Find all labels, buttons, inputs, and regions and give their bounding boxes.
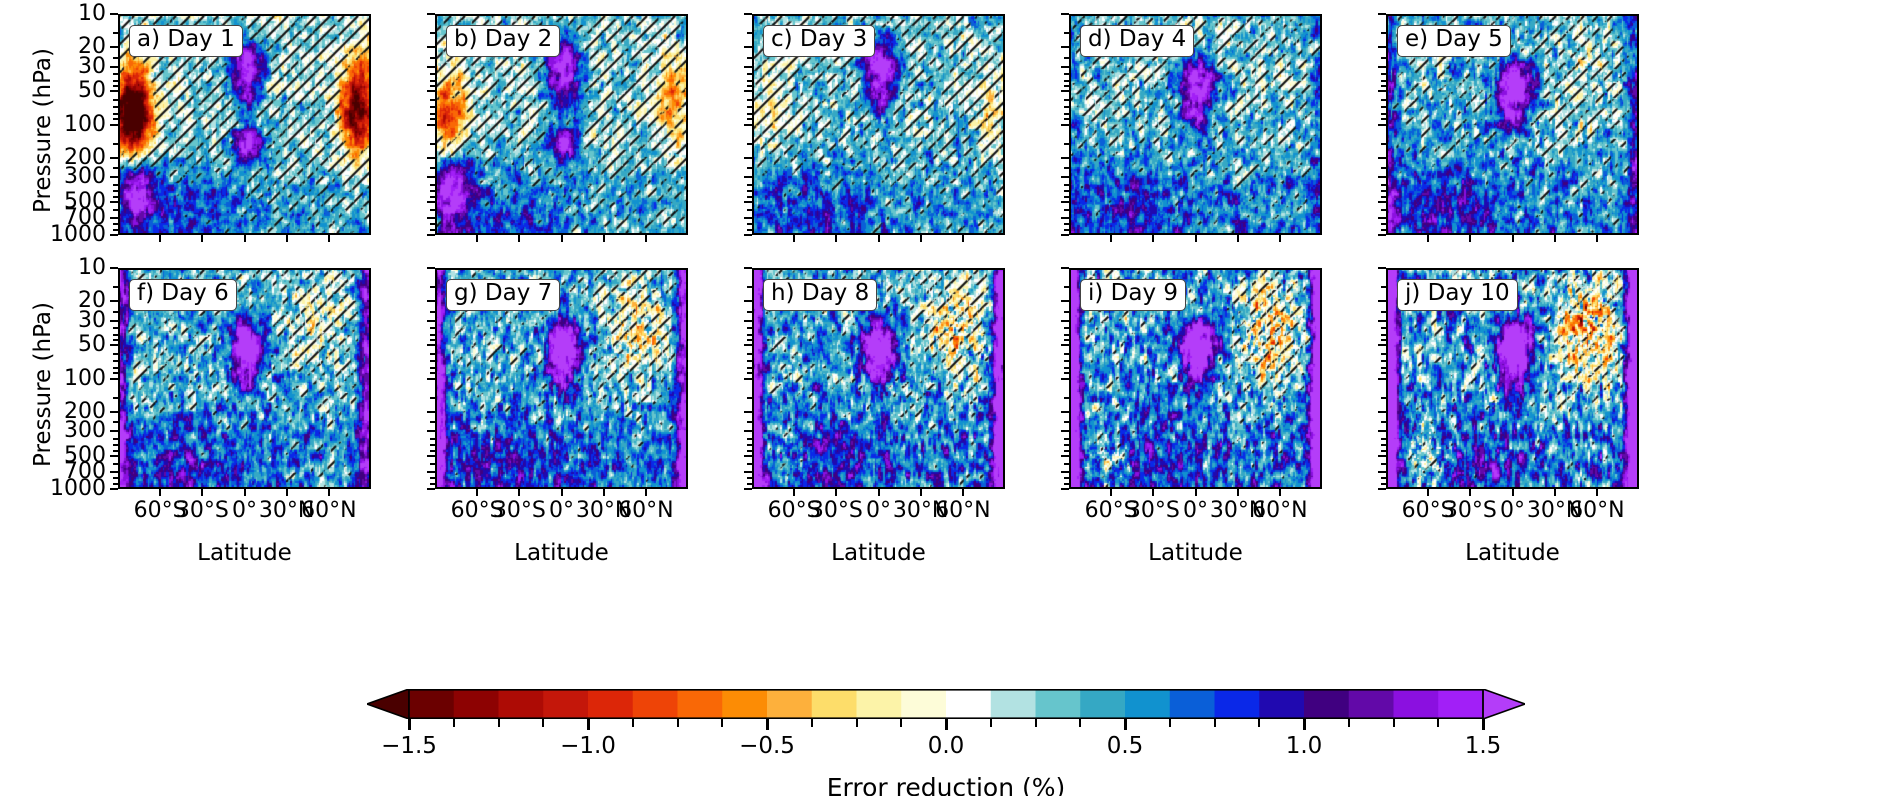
colorbar-minor-tick-3	[542, 719, 544, 727]
panel-e-ytick-minor-3	[1381, 80, 1386, 82]
panel-e-ytick-9	[1378, 234, 1386, 236]
panel-h-ytick-4	[744, 378, 752, 380]
panel-i-ytick-6	[1061, 430, 1069, 432]
panel-j-xtick-label-1: 30°S	[1444, 500, 1497, 522]
panel-h-ytick-9	[744, 488, 752, 490]
colorbar-minor-tick-21	[1348, 719, 1350, 727]
panel-g-ytick-minor-7	[430, 367, 435, 369]
panel-f-ytick-minor-16	[113, 483, 118, 485]
panel-a-ytick-2	[110, 66, 118, 68]
panel-h-ytick-1	[744, 300, 752, 302]
panel-a-ytick-minor-4	[113, 85, 118, 87]
panel-d-ytick-minor-6	[1064, 106, 1069, 108]
panel-j-ytick-0	[1378, 267, 1386, 269]
panel-j-xtick-4	[1596, 489, 1598, 496]
panel-a-ytick-minor-0	[113, 32, 118, 34]
panel-h-xtick-2	[878, 489, 880, 496]
colorbar-minor-tick-18	[1214, 719, 1216, 727]
panel-b-ytick-minor-9	[430, 143, 435, 145]
panel-j-ytick-minor-8	[1381, 372, 1386, 374]
panel-g-ytick-minor-1	[430, 311, 435, 313]
panel-h-ytick-minor-14	[747, 463, 752, 465]
panel-i-ytick-minor-3	[1064, 334, 1069, 336]
panel-b-ytick-minor-13	[430, 196, 435, 198]
panel-g-ytick-minor-12	[430, 444, 435, 446]
panel-j-title: j) Day 10	[1397, 279, 1518, 311]
panel-g-xaxis-label: Latitude	[514, 540, 609, 566]
colorbar-swatch-13	[991, 689, 1036, 719]
panel-f-xtick-label-4: 60°N	[301, 500, 356, 522]
panel-h-ytick-2	[744, 320, 752, 322]
panel-a-ytick-minor-1	[113, 57, 118, 59]
panel-i-ytick-2	[1061, 320, 1069, 322]
panel-c-ytick-minor-4	[747, 85, 752, 87]
panel-f-ytick-minor-10	[113, 421, 118, 423]
panel-e-xtick-0	[1427, 235, 1429, 242]
panel-f-ytick-2	[110, 320, 118, 322]
panel-a-ytick-minor-2	[113, 73, 118, 75]
panel-g-ytick-4	[427, 378, 435, 380]
panel-a-ytick-9	[110, 234, 118, 236]
panel-f-xtick-label-2: 0°	[232, 500, 257, 522]
panel-d-ytick-5	[1061, 157, 1069, 159]
panel-j-ytick-4	[1378, 378, 1386, 380]
colorbar-minor-tick-6	[677, 719, 679, 727]
panel-j-ytick-minor-6	[1381, 360, 1386, 362]
panel-i-xtick-0	[1110, 489, 1112, 496]
panel-i: i) Day 9	[1069, 268, 1322, 489]
panel-b-ytick-minor-14	[430, 209, 435, 211]
panel-b-ytick-minor-6	[430, 106, 435, 108]
panel-h-ytick-8	[744, 471, 752, 473]
panel-c-ytick-minor-5	[747, 99, 752, 101]
panel-f-ytick-minor-7	[113, 367, 118, 369]
colorbar-swatch-2	[499, 689, 544, 719]
panel-i-ytick-minor-7	[1064, 367, 1069, 369]
panel-c-ytick-minor-16	[747, 229, 752, 231]
panel-c-ytick-minor-9	[747, 143, 752, 145]
panel-e-ytick-3	[1378, 90, 1386, 92]
panel-b-ytick-7	[427, 201, 435, 203]
panel-h-ytick-minor-12	[747, 444, 752, 446]
panel-b-xtick-2	[561, 235, 563, 242]
panel-j-ytick-minor-9	[1381, 397, 1386, 399]
panel-e-ytick-minor-6	[1381, 106, 1386, 108]
panel-g-ytick-0	[427, 267, 435, 269]
panel-d-ytick-minor-1	[1064, 57, 1069, 59]
panel-b-ytick-minor-5	[430, 99, 435, 101]
colorbar-extend-min	[367, 689, 409, 719]
panel-a-title: a) Day 1	[129, 25, 243, 57]
panel-b-ytick-minor-3	[430, 80, 435, 82]
colorbar-swatch-18	[1215, 689, 1260, 719]
panel-g-xtick-1	[518, 489, 520, 496]
panel-i-ytick-minor-9	[1064, 397, 1069, 399]
panel-f-ytick-minor-14	[113, 463, 118, 465]
colorbar-minor-tick-1	[453, 719, 455, 727]
panel-c-ytick-9	[744, 234, 752, 236]
panel-e-ytick-minor-13	[1381, 196, 1386, 198]
panel-g-xtick-4	[645, 489, 647, 496]
colorbar-minor-tick-22	[1393, 719, 1395, 727]
panel-h-ytick-minor-2	[747, 327, 752, 329]
panel-h-ytick-7	[744, 455, 752, 457]
panel-a-ytick-minor-15	[113, 223, 118, 225]
panel-b-xtick-1	[518, 235, 520, 242]
panel-e-ytick-minor-12	[1381, 190, 1386, 192]
panel-j-xtick-label-2: 0°	[1500, 500, 1525, 522]
panel-d-xtick-2	[1195, 235, 1197, 242]
panel-g-xtick-3	[603, 489, 605, 496]
panel-i-title: i) Day 9	[1080, 279, 1186, 311]
panel-f-ytick-minor-0	[113, 286, 118, 288]
panel-c-ytick-minor-15	[747, 223, 752, 225]
panel-i-ytick-minor-16	[1064, 483, 1069, 485]
panel-g-ytick-minor-10	[430, 421, 435, 423]
panel-g-xtick-label-1: 30°S	[493, 500, 546, 522]
panel-i-ytick-8	[1061, 471, 1069, 473]
panel-d-ytick-minor-10	[1064, 167, 1069, 169]
panel-d-ytick-0	[1061, 13, 1069, 15]
panel-g-ytick-1	[427, 300, 435, 302]
panel-g-xtick-2	[561, 489, 563, 496]
panel-e-ytick-7	[1378, 201, 1386, 203]
panel-f-ytick-5	[110, 411, 118, 413]
panel-a-ytick-7	[110, 201, 118, 203]
panel-g-ytick-9	[427, 488, 435, 490]
panel-c-xtick-1	[835, 235, 837, 242]
panel-e-ytick-minor-8	[1381, 118, 1386, 120]
panel-i-xtick-label-1: 30°S	[1127, 500, 1180, 522]
panel-f-xtick-4	[328, 489, 330, 496]
colorbar-minor-tick-10	[856, 719, 858, 727]
panel-a-ytick-minor-12	[113, 190, 118, 192]
panel-c-xtick-4	[962, 235, 964, 242]
panel-c-xtick-3	[920, 235, 922, 242]
panel-e-ytick-minor-9	[1381, 143, 1386, 145]
panel-a-ytick-minor-9	[113, 143, 118, 145]
panel-h-ytick-minor-13	[747, 450, 752, 452]
panel-e-ytick-1	[1378, 46, 1386, 48]
panel-e-ytick-minor-4	[1381, 85, 1386, 87]
panel-b-xtick-3	[603, 235, 605, 242]
panel-a-ytick-0	[110, 13, 118, 15]
panel-d: d) Day 4	[1069, 14, 1322, 235]
panel-h-ytick-0	[744, 267, 752, 269]
colorbar-minor-tick-15	[1079, 719, 1081, 727]
panel-c-ytick-6	[744, 176, 752, 178]
panel-a-ytick-5	[110, 157, 118, 159]
panel-e-ytick-minor-7	[1381, 113, 1386, 115]
panel-e-ytick-minor-1	[1381, 57, 1386, 59]
panel-j: j) Day 10	[1386, 268, 1639, 489]
panel-a-xtick-3	[286, 235, 288, 242]
panel-h-ytick-3	[744, 344, 752, 346]
panel-e-xtick-4	[1596, 235, 1598, 242]
panel-h-ytick-minor-15	[747, 477, 752, 479]
panel-e-ytick-minor-5	[1381, 99, 1386, 101]
panel-d-ytick-9	[1061, 234, 1069, 236]
panel-i-xtick-4	[1279, 489, 1281, 496]
panel-a-ytick-6	[110, 176, 118, 178]
colorbar-minor-tick-23	[1437, 719, 1439, 727]
panel-i-ytick-4	[1061, 378, 1069, 380]
panel-g-ytick-2	[427, 320, 435, 322]
panel-c-ytick-3	[744, 90, 752, 92]
panel-f-xtick-label-1: 30°S	[176, 500, 229, 522]
panel-h-ytick-minor-1	[747, 311, 752, 313]
colorbar-tick-label-5: 1.0	[1286, 735, 1323, 758]
colorbar-tick-4	[1124, 719, 1127, 730]
panel-j-xtick-1	[1469, 489, 1471, 496]
panel-b-ytick-9	[427, 234, 435, 236]
panel-b-xtick-0	[476, 235, 478, 242]
panel-b-ytick-minor-0	[430, 32, 435, 34]
panel-f-ytick-minor-12	[113, 444, 118, 446]
panel-f-ytick-minor-1	[113, 311, 118, 313]
panel-b-ytick-2	[427, 66, 435, 68]
panel-j-ytick-minor-5	[1381, 353, 1386, 355]
colorbar-tick-label-4: 0.5	[1107, 735, 1144, 758]
panel-g-ytick-minor-15	[430, 477, 435, 479]
panel-j-xtick-label-4: 60°N	[1569, 500, 1624, 522]
panel-a-ytick-minor-13	[113, 196, 118, 198]
panel-i-ytick-5	[1061, 411, 1069, 413]
panel-d-title: d) Day 4	[1080, 25, 1194, 57]
panel-f-xtick-3	[286, 489, 288, 496]
colorbar-tick-2	[766, 719, 769, 730]
panel-h-xaxis-label: Latitude	[831, 540, 926, 566]
panel-i-ytick-minor-1	[1064, 311, 1069, 313]
colorbar-swatch-9	[812, 689, 857, 719]
panel-b-ytick-minor-16	[430, 229, 435, 231]
panel-h-ytick-minor-3	[747, 334, 752, 336]
panel-g-ytick-minor-6	[430, 360, 435, 362]
panel-a-ytick-minor-16	[113, 229, 118, 231]
colorbar-minor-tick-5	[632, 719, 634, 727]
colorbar-minor-tick-13	[990, 719, 992, 727]
panel-c-ytick-minor-10	[747, 167, 752, 169]
panel-j-ytick-minor-2	[1381, 327, 1386, 329]
panel-d-ytick-minor-16	[1064, 229, 1069, 231]
figure-root: a) Day 1102030501002003005007001000b) Da…	[0, 0, 1892, 796]
panel-a-xtick-0	[159, 235, 161, 242]
panel-d-ytick-3	[1061, 90, 1069, 92]
panel-h-ytick-minor-9	[747, 397, 752, 399]
colorbar-tick-label-1: −1.0	[560, 735, 616, 758]
panel-j-ytick-2	[1378, 320, 1386, 322]
panel-e-ytick-minor-2	[1381, 73, 1386, 75]
panel-f-xaxis-label: Latitude	[197, 540, 292, 566]
panel-i-ytick-minor-10	[1064, 421, 1069, 423]
panel-h-xtick-label-1: 30°S	[810, 500, 863, 522]
panel-b-ytick-minor-10	[430, 167, 435, 169]
panel-i-ytick-9	[1061, 488, 1069, 490]
colorbar-swatch-12	[946, 689, 991, 719]
panel-g-ytick-minor-2	[430, 327, 435, 329]
colorbar-tick-5	[1303, 719, 1306, 730]
panel-d-ytick-minor-9	[1064, 143, 1069, 145]
panel-i-ytick-minor-6	[1064, 360, 1069, 362]
colorbar-tick-3	[945, 719, 948, 730]
panel-j-ytick-minor-7	[1381, 367, 1386, 369]
panel-j-ytick-minor-12	[1381, 444, 1386, 446]
panel-f-ytick-minor-8	[113, 372, 118, 374]
panel-h-ytick-6	[744, 430, 752, 432]
panel-i-xtick-label-2: 0°	[1183, 500, 1208, 522]
panel-e-ytick-5	[1378, 157, 1386, 159]
panel-h-ytick-minor-16	[747, 483, 752, 485]
panel-g-ytick-minor-11	[430, 438, 435, 440]
panel-h-ytick-minor-0	[747, 286, 752, 288]
panel-i-ytick-minor-11	[1064, 438, 1069, 440]
panel-h-xtick-label-2: 0°	[866, 500, 891, 522]
panel-b-ytick-0	[427, 13, 435, 15]
panel-j-ytick-minor-13	[1381, 450, 1386, 452]
panel-d-ytick-4	[1061, 124, 1069, 126]
panel-c-ytick-minor-13	[747, 196, 752, 198]
panel-j-ytick-3	[1378, 344, 1386, 346]
panel-h-ytick-minor-8	[747, 372, 752, 374]
panel-a-ytick-3	[110, 90, 118, 92]
panel-c-ytick-minor-2	[747, 73, 752, 75]
panel-b-ytick-minor-4	[430, 85, 435, 87]
ytick-label-a-0: 10	[22, 3, 106, 25]
panel-b-ytick-minor-15	[430, 223, 435, 225]
panel-d-ytick-minor-14	[1064, 209, 1069, 211]
panel-a-ytick-minor-5	[113, 99, 118, 101]
panel-b-ytick-4	[427, 124, 435, 126]
panel-b-ytick-8	[427, 217, 435, 219]
colorbar-swatch-3	[543, 689, 588, 719]
panel-d-ytick-7	[1061, 201, 1069, 203]
panel-d-ytick-8	[1061, 217, 1069, 219]
panel-c-ytick-minor-0	[747, 32, 752, 34]
colorbar-swatch-4	[588, 689, 633, 719]
panel-b-ytick-minor-1	[430, 57, 435, 59]
colorbar-title: Error reduction (%)	[827, 773, 1066, 796]
panel-c-ytick-0	[744, 13, 752, 15]
panel-d-xtick-0	[1110, 235, 1112, 242]
panel-i-ytick-0	[1061, 267, 1069, 269]
panel-j-ytick-minor-3	[1381, 334, 1386, 336]
panel-c-ytick-4	[744, 124, 752, 126]
colorbar-swatch-8	[767, 689, 812, 719]
panel-c-ytick-minor-8	[747, 118, 752, 120]
panel-f-ytick-4	[110, 378, 118, 380]
panel-j-ytick-minor-4	[1381, 339, 1386, 341]
panel-b-ytick-minor-8	[430, 118, 435, 120]
colorbar-swatch-23	[1438, 689, 1483, 719]
panel-c-ytick-8	[744, 217, 752, 219]
colorbar-swatch-0	[409, 689, 454, 719]
colorbar-swatch-7	[722, 689, 767, 719]
panel-h-ytick-5	[744, 411, 752, 413]
panel-g-xtick-label-4: 60°N	[618, 500, 673, 522]
panel-d-ytick-minor-11	[1064, 184, 1069, 186]
panel-c-ytick-5	[744, 157, 752, 159]
colorbar-tick-label-0: −1.5	[381, 735, 437, 758]
panel-c-xtick-2	[878, 235, 880, 242]
panel-e-title: e) Day 5	[1397, 25, 1511, 57]
panel-i-xtick-2	[1195, 489, 1197, 496]
panel-g: g) Day 7	[435, 268, 688, 489]
panel-a-xtick-1	[201, 235, 203, 242]
panel-e-ytick-minor-11	[1381, 184, 1386, 186]
panel-g-ytick-minor-0	[430, 286, 435, 288]
panel-g-ytick-minor-5	[430, 353, 435, 355]
colorbar-tick-label-2: −0.5	[739, 735, 795, 758]
panel-f-xtick-2	[244, 489, 246, 496]
panel-h-ytick-minor-11	[747, 438, 752, 440]
panel-c-ytick-2	[744, 66, 752, 68]
panel-d-ytick-minor-0	[1064, 32, 1069, 34]
panel-j-xtick-3	[1554, 489, 1556, 496]
colorbar-extend-max	[1483, 689, 1525, 719]
colorbar-tick-label-3: 0.0	[928, 735, 965, 758]
colorbar-swatch-10	[857, 689, 902, 719]
panel-f-ytick-8	[110, 471, 118, 473]
panel-e-ytick-minor-0	[1381, 32, 1386, 34]
panel-j-ytick-minor-10	[1381, 421, 1386, 423]
panel-i-ytick-minor-4	[1064, 339, 1069, 341]
panel-b-ytick-minor-12	[430, 190, 435, 192]
panel-d-ytick-minor-8	[1064, 118, 1069, 120]
panel-f-ytick-6	[110, 430, 118, 432]
panel-j-ytick-5	[1378, 411, 1386, 413]
panel-a-ytick-4	[110, 124, 118, 126]
panel-c-title: c) Day 3	[763, 25, 875, 57]
panel-h-xtick-0	[793, 489, 795, 496]
panel-b-title: b) Day 2	[446, 25, 560, 57]
colorbar-tick-1	[587, 719, 590, 730]
panel-d-xtick-1	[1152, 235, 1154, 242]
colorbar-tick-0	[408, 719, 411, 730]
panel-g-ytick-minor-14	[430, 463, 435, 465]
colorbar-minor-tick-14	[1035, 719, 1037, 727]
panel-i-ytick-minor-14	[1064, 463, 1069, 465]
panel-i-ytick-7	[1061, 455, 1069, 457]
colorbar-swatch-17	[1170, 689, 1215, 719]
colorbar-minor-tick-9	[811, 719, 813, 727]
panel-i-ytick-1	[1061, 300, 1069, 302]
panel-i-ytick-3	[1061, 344, 1069, 346]
panel-b-ytick-5	[427, 157, 435, 159]
panel-g-ytick-minor-16	[430, 483, 435, 485]
yaxis-label-row-1: Pressure (hPa)	[30, 302, 56, 467]
panel-e-ytick-minor-14	[1381, 209, 1386, 211]
panel-g-ytick-minor-3	[430, 334, 435, 336]
colorbar-swatch-21	[1349, 689, 1394, 719]
panel-h-xtick-label-4: 60°N	[935, 500, 990, 522]
panel-a-ytick-minor-7	[113, 113, 118, 115]
panel-j-ytick-8	[1378, 471, 1386, 473]
panel-b: b) Day 2	[435, 14, 688, 235]
panel-f-ytick-0	[110, 267, 118, 269]
panel-h-ytick-minor-4	[747, 339, 752, 341]
panel-i-ytick-minor-2	[1064, 327, 1069, 329]
panel-h-ytick-minor-5	[747, 353, 752, 355]
panel-a-ytick-minor-10	[113, 167, 118, 169]
panel-f-ytick-minor-2	[113, 327, 118, 329]
panel-g-ytick-minor-8	[430, 372, 435, 374]
panel-e-xtick-1	[1469, 235, 1471, 242]
panel-h-xtick-3	[920, 489, 922, 496]
colorbar-swatch-1	[454, 689, 499, 719]
panel-d-ytick-1	[1061, 46, 1069, 48]
panel-i-ytick-minor-0	[1064, 286, 1069, 288]
panel-g-ytick-minor-4	[430, 339, 435, 341]
